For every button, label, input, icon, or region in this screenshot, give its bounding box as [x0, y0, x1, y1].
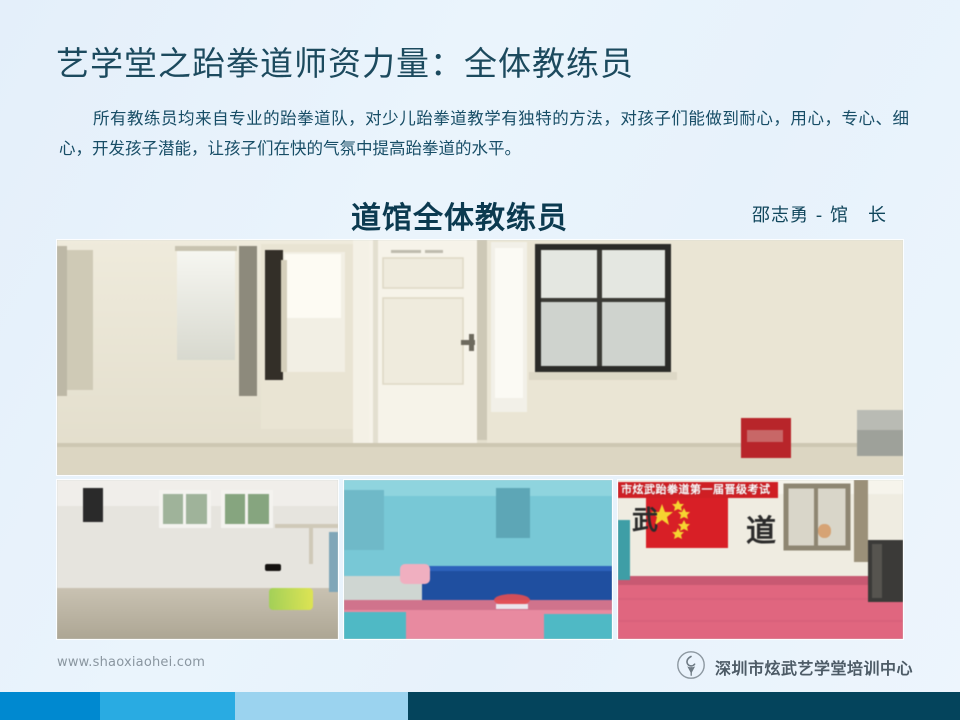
photo-right-banner-text: 市炫武跆拳道第一届晋级考试: [621, 482, 773, 498]
bar-segment-2: [100, 692, 235, 720]
footer-url[interactable]: www.shaoxiaohei.com: [57, 655, 205, 670]
footer-brand-text: 深圳市炫武艺学堂培训中心: [715, 655, 913, 679]
circle-brand-logo-icon: [676, 650, 706, 684]
bottom-color-bar: [0, 692, 960, 720]
photo-mid-arena-background: [344, 480, 612, 639]
section-byline: 邵志勇 - 馆 长: [752, 201, 887, 227]
photo-main-scene: [57, 240, 903, 475]
bar-segment-4: [408, 692, 960, 720]
photo-mid: [344, 480, 612, 639]
bar-segment-1: [0, 692, 100, 720]
section-heading: 道馆全体教练员: [351, 193, 568, 237]
page-title: 艺学堂之跆拳道师资力量：全体教练员: [56, 37, 634, 85]
photo-left: [57, 480, 338, 639]
photo-mid-scene: [344, 480, 612, 639]
photo-right-calligraphy-wu: 武: [632, 500, 658, 537]
photo-left-studio-background: [57, 480, 338, 639]
presentation-slide: 艺学堂之跆拳道师资力量：全体教练员 所有教练员均来自专业的跆拳道队，对少儿跆拳道…: [0, 0, 960, 720]
photo-left-scene: [57, 480, 338, 639]
photo-right-scene: 市炫武跆拳道第一届晋级考试 武 道: [618, 480, 903, 639]
bar-segment-3: [235, 692, 408, 720]
photo-right: 市炫武跆拳道第一届晋级考试 武 道: [618, 480, 903, 639]
body-paragraph: 所有教练员均来自专业的跆拳道队，对少儿跆拳道教学有独特的方法，对孩子们能做到耐心…: [59, 104, 909, 164]
photo-right-exam-background: [618, 480, 903, 639]
photo-right-calligraphy-dao: 道: [746, 506, 776, 550]
photo-main-room-background: [57, 240, 903, 475]
photo-main: [57, 240, 903, 475]
footer-brand: 深圳市炫武艺学堂培训中心: [676, 650, 913, 684]
photo-right-raised-hand: [818, 524, 831, 538]
